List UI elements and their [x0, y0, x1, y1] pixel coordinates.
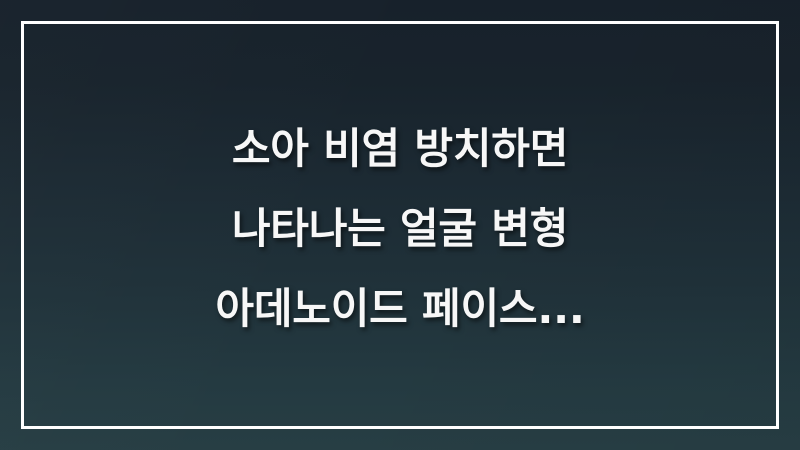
title-line-3: 아데노이드 페이스... [0, 269, 800, 349]
thumbnail-card[interactable]: 소아 비염 방치하면 나타나는 얼굴 변형 아데노이드 페이스... [0, 0, 800, 450]
title-line-2: 나타나는 얼굴 변형 [0, 189, 800, 269]
title-line-1: 소아 비염 방치하면 [0, 109, 800, 189]
title-block: 소아 비염 방치하면 나타나는 얼굴 변형 아데노이드 페이스... [0, 0, 800, 450]
